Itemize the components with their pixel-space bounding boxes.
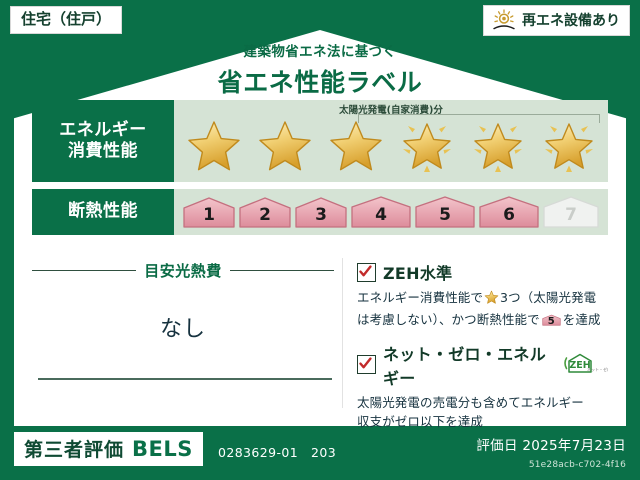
utility-cost-column: 目安光熱費 なし	[32, 258, 334, 408]
title-subtitle: 建築物省エネ法に基づく	[0, 40, 640, 60]
bels-number: 0283629-01 203	[218, 442, 336, 461]
insulation-badge-inline: 5	[542, 312, 561, 328]
zeh-house-logo-icon: ZEH ネット・ゼロ	[562, 351, 608, 379]
svg-text:ネット・ゼロ: ネット・ゼロ	[587, 366, 608, 372]
star-solar-icon	[534, 116, 603, 178]
building-type-label: 住宅（住戸）	[21, 10, 111, 28]
evaluation-date: 評価日 2025年7月23日	[476, 434, 626, 454]
insulation-badge-5: 5	[414, 195, 476, 229]
zeh-standard-label: ZEH水準	[383, 260, 452, 284]
utility-cost-divider	[38, 378, 332, 380]
zeh-standard-check-row[interactable]: ZEH水準	[357, 260, 608, 284]
insulation-performance-row: 断熱性能 1 2	[32, 189, 608, 235]
document-hash: 51e28acb-c702-4f16	[529, 460, 626, 470]
checkbox-checked-icon[interactable]	[357, 355, 376, 374]
bels-certification-box: 第三者評価 BELS	[14, 432, 203, 466]
net-zero-energy-label: ネット・ゼロ・エネルギー	[383, 341, 552, 389]
star-icon	[179, 116, 248, 178]
insulation-levels: 1 2 3 4	[174, 189, 608, 235]
building-type-tag: 住宅（住戸）	[10, 6, 122, 34]
energy-performance-row: エネルギー 消費性能 太陽光発電(自家消費)分	[32, 100, 608, 182]
sun-renewable-icon	[491, 9, 517, 31]
utility-cost-label: 目安光熱費	[144, 260, 222, 281]
insulation-badge-4: 4	[350, 195, 412, 229]
insulation-performance-label: 断熱性能	[32, 189, 174, 235]
utility-cost-heading: 目安光熱費	[32, 260, 334, 281]
title-block: 建築物省エネ法に基づく 省エネ性能ラベル	[0, 40, 640, 99]
utility-cost-value: なし	[32, 311, 334, 343]
rule-left	[32, 270, 136, 271]
insulation-badge-3: 3	[294, 195, 348, 229]
renewable-energy-label: 再エネ設備あり	[522, 10, 620, 30]
performance-panel: エネルギー 消費性能 太陽光発電(自家消費)分	[32, 100, 608, 242]
page-title: 省エネ性能ラベル	[0, 63, 640, 99]
star-icon-inline	[484, 293, 499, 308]
energy-performance-label: エネルギー 消費性能	[32, 100, 174, 182]
net-zero-energy-description: 太陽光発電の売電分も含めてエネルギー 収支がゼロ以下を達成	[357, 393, 608, 432]
insulation-badge-7: 7	[542, 195, 600, 229]
evaluation-date-value: 2025年7月23日	[522, 438, 626, 454]
bels-logo-text: BELS	[132, 437, 193, 461]
star-icon	[321, 116, 390, 178]
insulation-badge-2: 2	[238, 195, 292, 229]
rule-right	[230, 270, 334, 271]
checkbox-checked-icon[interactable]	[357, 263, 376, 282]
insulation-badge-1: 1	[182, 195, 236, 229]
star-solar-icon	[392, 116, 461, 178]
star-rating	[174, 116, 608, 178]
zeh-standard-description: エネルギー消費性能で3つ（太陽光発電 は考慮しない）、かつ断熱性能で5を達成	[357, 288, 608, 330]
energy-stars-area: 太陽光発電(自家消費)分	[174, 100, 608, 182]
bels-energy-label: 住宅（住戸） 再エネ設備あり 建築物省エネ法に基づく	[0, 0, 640, 480]
criteria-column: ZEH水準 エネルギー消費性能で3つ（太陽光発電 は考慮しない）、かつ断熱性能で…	[351, 258, 608, 408]
star-solar-icon	[463, 116, 532, 178]
renewable-energy-tag: 再エネ設備あり	[483, 5, 630, 36]
column-divider	[342, 258, 343, 408]
insulation-badge-6: 6	[478, 195, 540, 229]
details-section: 目安光熱費 なし ZEH水準 エネルギー消費性能で3つ（太陽光発電 は考慮しない…	[32, 258, 608, 408]
evaluation-date-label: 評価日	[476, 438, 517, 454]
footer: 第三者評価 BELS 0283629-01 203 評価日 2025年7月23日…	[0, 428, 640, 480]
third-party-eval-label: 第三者評価	[24, 435, 124, 462]
star-icon	[250, 116, 319, 178]
net-zero-energy-check-row[interactable]: ネット・ゼロ・エネルギー ZEH ネット・ゼロ	[357, 341, 608, 389]
